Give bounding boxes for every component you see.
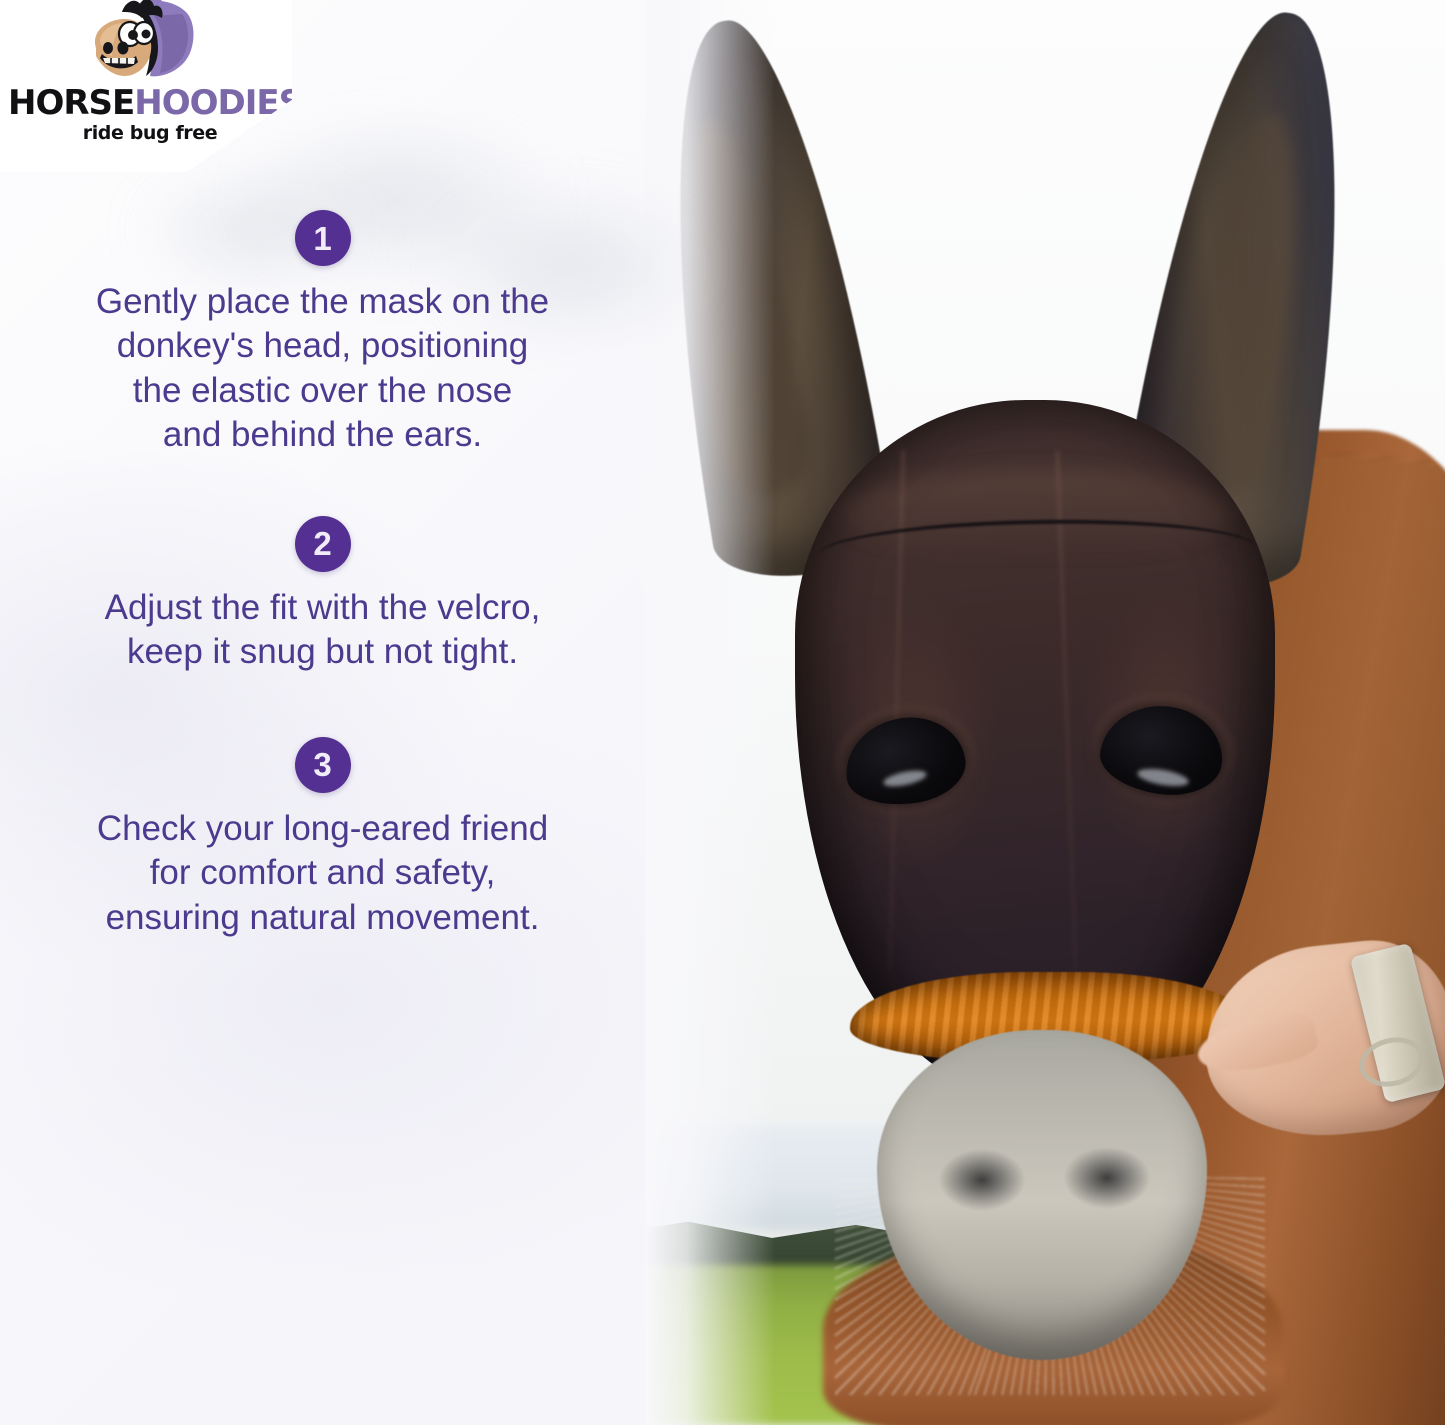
brand-logo-card: HORSEHOODIES ride bug free: [0, 0, 292, 172]
donkey: [645, 0, 1445, 1425]
step-1-badge: 1: [295, 210, 351, 266]
logo-tagline: ride bug free: [8, 122, 292, 144]
step-1-text: Gently place the mask on the donkey's he…: [0, 280, 645, 458]
step-2: 2 Adjust the fit with the velcro, keep i…: [0, 516, 645, 675]
step-2-text: Adjust the fit with the velcro, keep it …: [0, 586, 645, 675]
step-3-text: Check your long-eared friend for comfort…: [0, 807, 645, 940]
instruction-steps: 1 Gently place the mask on the donkey's …: [0, 210, 645, 940]
promo-graphic: HORSEHOODIES ride bug free 1 Gently plac…: [0, 0, 1445, 1425]
logo-wordmark: HORSEHOODIES ride bug free: [8, 86, 292, 144]
logo-word-hoodies: HOODIES: [134, 83, 302, 123]
horse-mascot-icon: [78, 0, 206, 92]
step-3: 3 Check your long-eared friend for comfo…: [0, 737, 645, 940]
donkey-photo: [645, 0, 1445, 1425]
logo-word-horse: HORSE: [8, 83, 134, 123]
step-1: 1 Gently place the mask on the donkey's …: [0, 210, 645, 458]
step-3-badge: 3: [295, 737, 351, 793]
step-2-badge: 2: [295, 516, 351, 572]
